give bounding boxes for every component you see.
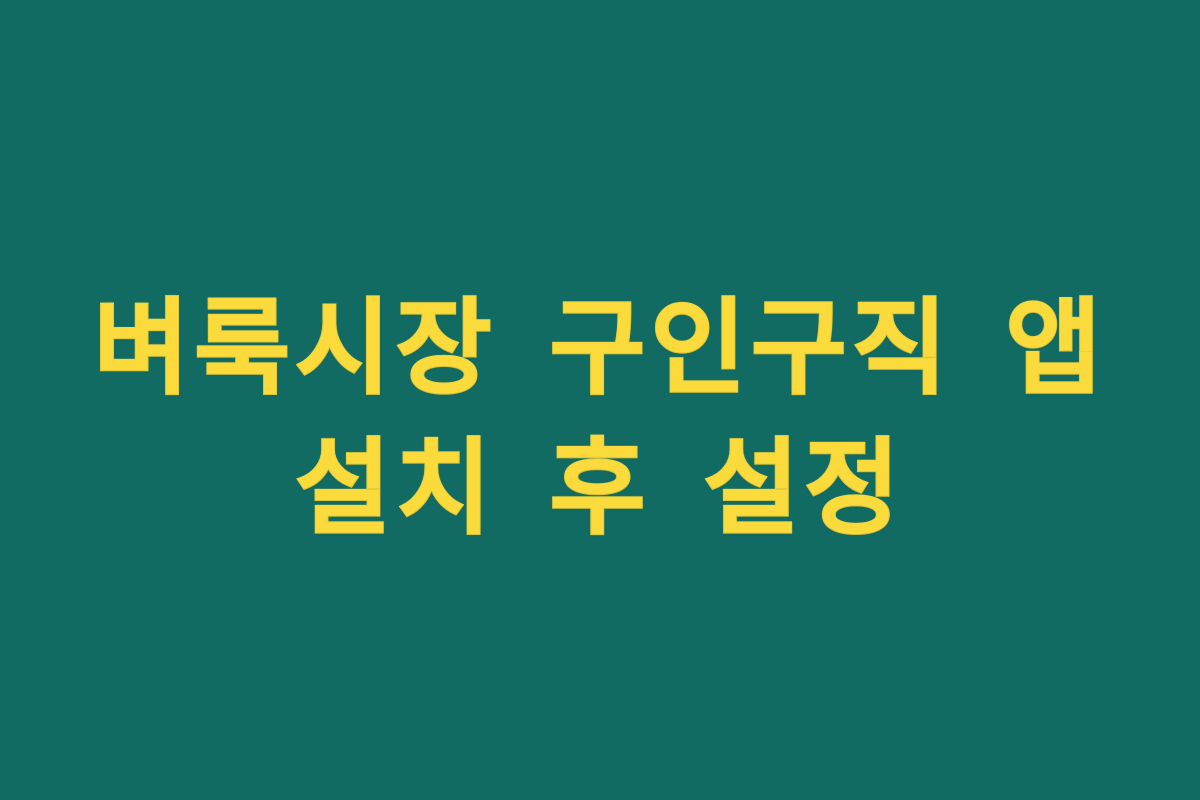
title-banner: 벼룩시장 구인구직 앱 설치 후 설정 bbox=[0, 0, 1200, 800]
title-block: 벼룩시장 구인구직 앱 설치 후 설정 bbox=[85, 278, 1115, 558]
page-title: 벼룩시장 구인구직 앱 설치 후 설정 bbox=[85, 278, 1115, 558]
